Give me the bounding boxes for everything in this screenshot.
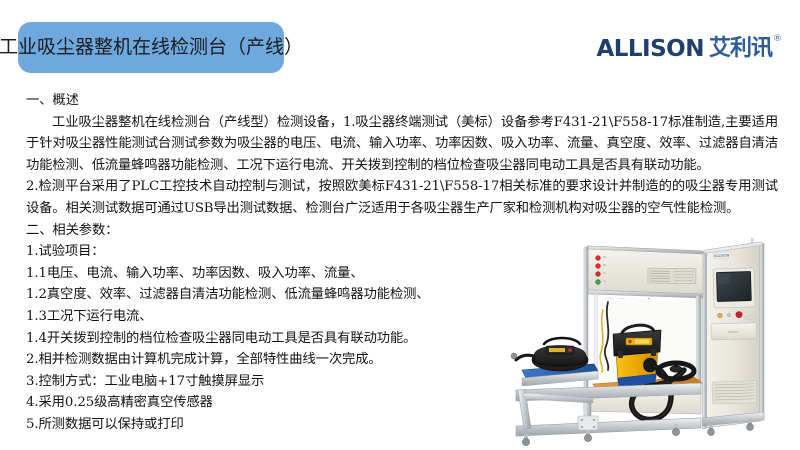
flow-sensor-fitting xyxy=(511,353,517,359)
cabinet-nameplate xyxy=(745,316,755,319)
vacuum-yellow-display xyxy=(635,340,649,344)
selector-switch-yellow[interactable] xyxy=(718,313,723,318)
bracket-bolt-4 xyxy=(593,426,595,428)
bracket-bolt-2 xyxy=(593,419,595,421)
cabinet-right-post xyxy=(760,242,764,421)
lamp-label-4 xyxy=(603,280,606,282)
caster-wheel-left xyxy=(522,438,529,445)
caster-wheel-mid xyxy=(584,434,591,441)
brand-latin-text: ALLISON xyxy=(596,36,704,62)
indicator-lamp-red-1[interactable] xyxy=(596,256,601,261)
overview-paragraph-2: 2.检测平台采用了PLC工控技术自动控制与测试，按照欧美标F431-21\F55… xyxy=(26,176,778,219)
vacuum-black-hose-stub xyxy=(516,355,534,360)
instrument-module xyxy=(648,268,696,284)
vacuum-yellow-power-button[interactable] xyxy=(628,340,631,343)
vacuum-cleaner-black xyxy=(511,338,588,371)
cabinet-drawer-handle[interactable] xyxy=(728,331,738,333)
vacuum-black-power-button[interactable] xyxy=(568,348,572,352)
section-one-heading: 一、概述 xyxy=(26,90,778,112)
page-title: 工业吸尘器整机在线检测台（产线） xyxy=(0,37,303,58)
chamber-inner-column xyxy=(594,294,598,368)
vacuum-black-handle[interactable] xyxy=(544,338,580,344)
page-title-pill: 工业吸尘器整机在线检测台（产线） xyxy=(18,22,284,73)
registered-trademark-icon: ® xyxy=(773,34,782,44)
lamp-label-2 xyxy=(603,264,606,266)
base-bracket-plate xyxy=(578,416,598,430)
overview-paragraph: 工业吸尘器整机在线检测台（产线型）检测设备，1.吸尘器终端测试（美标）设备参考F… xyxy=(26,112,778,177)
cabinet-logo-plate: ALLISON xyxy=(713,252,731,259)
vacuum-black-display xyxy=(549,348,565,352)
chamber-right-column xyxy=(696,295,701,390)
caster-wheel-right xyxy=(672,428,679,435)
screen-glare xyxy=(718,274,730,284)
product-photo: ALLISON xyxy=(498,238,798,450)
vacuum-yellow-latch-right[interactable] xyxy=(651,349,656,356)
vacuum-cleaner-yellow xyxy=(613,325,661,387)
brand-cjk-text: 艾利讯 xyxy=(709,36,772,62)
indicator-lamp-red-3[interactable] xyxy=(596,272,601,277)
indicator-lamp-green[interactable] xyxy=(596,280,601,285)
cabinet-vent-grille xyxy=(712,381,757,404)
machine-illustration: ALLISON xyxy=(498,238,798,450)
control-cabinet: ALLISON xyxy=(703,238,765,435)
lamp-label-1 xyxy=(603,256,606,258)
svg-text:ALLISON: ALLISON xyxy=(714,254,730,258)
indicator-button-grey[interactable] xyxy=(727,313,730,316)
vacuum-yellow-latch-left[interactable] xyxy=(618,351,623,358)
indicator-lamp-red-2[interactable] xyxy=(596,264,601,269)
slide-root: 工业吸尘器整机在线检测台（产线） ALLISON 艾利讯 ® 一、概述 工业吸尘… xyxy=(0,0,800,450)
brand-logo: ALLISON 艾利讯 ® xyxy=(596,36,782,70)
base-frame xyxy=(516,383,701,446)
bracket-bolt-3 xyxy=(581,426,583,428)
emergency-stop-button[interactable] xyxy=(736,312,742,318)
lamp-label-3 xyxy=(603,272,606,274)
bracket-bolt-1 xyxy=(581,419,583,421)
